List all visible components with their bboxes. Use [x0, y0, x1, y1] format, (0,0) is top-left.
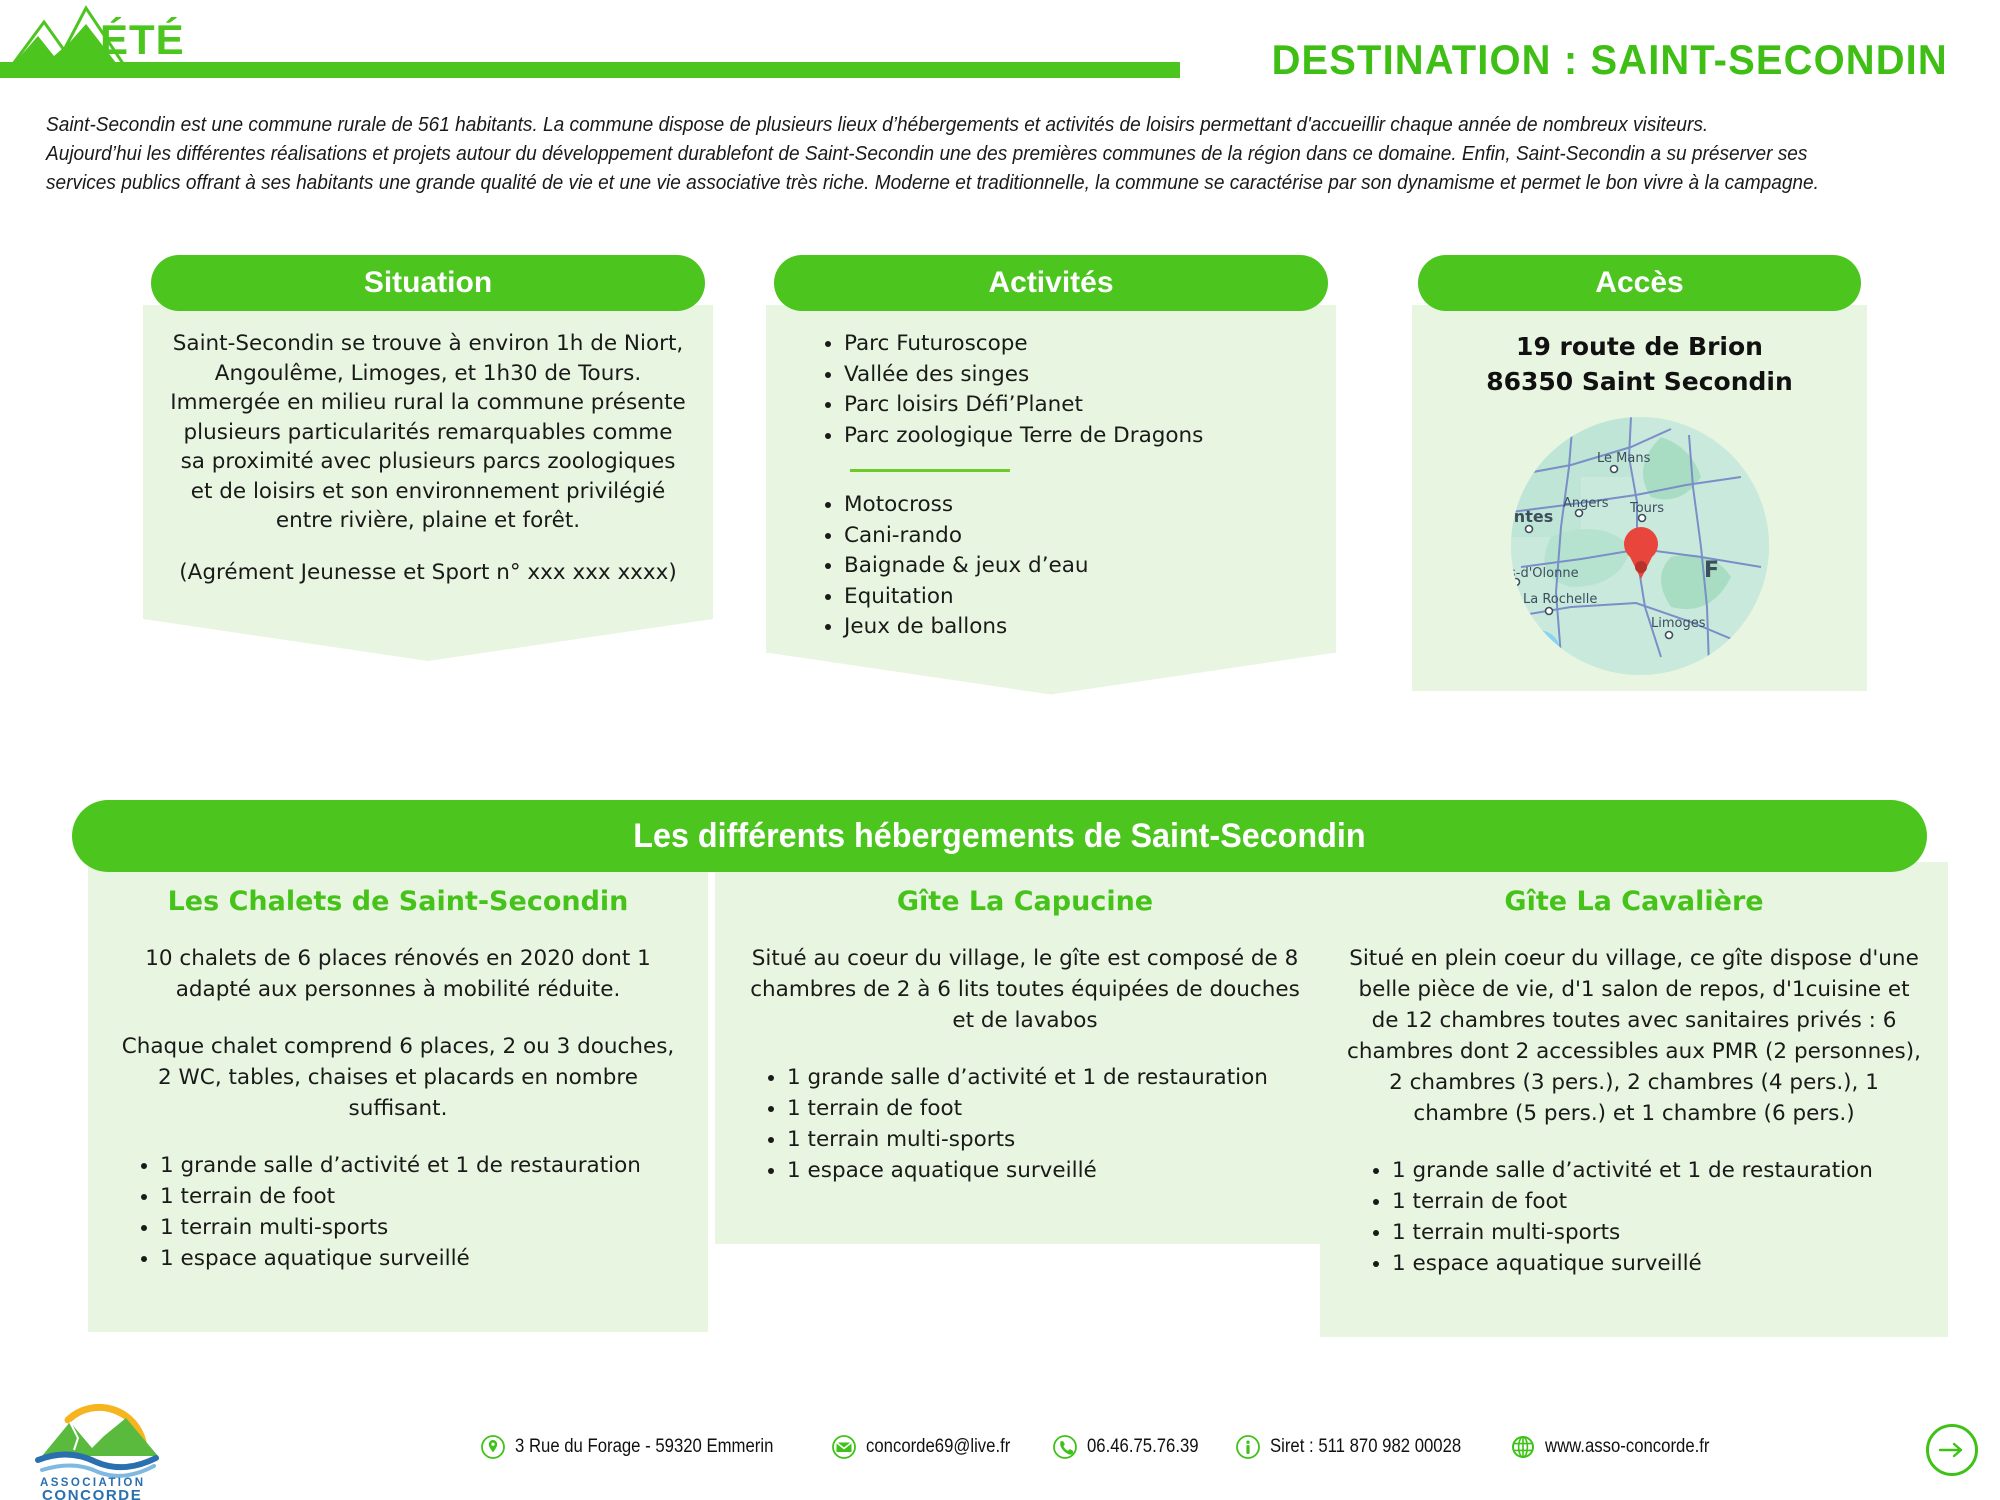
footer-address: 3 Rue du Forage - 59320 Emmerin — [480, 1434, 809, 1460]
phone-icon — [1052, 1434, 1078, 1460]
list-item: 1 espace aquatique surveillé — [1392, 1248, 1924, 1279]
intro-paragraph: Saint-Secondin est une commune rurale de… — [46, 110, 1813, 197]
logo-line-2: CONCORDE — [42, 1487, 142, 1500]
acces-address-line-1: 19 route de Brion — [1438, 329, 1841, 364]
list-item: 1 espace aquatique surveillé — [160, 1243, 684, 1274]
card-activites-title: Activités — [988, 266, 1113, 300]
footer-address-text: 3 Rue du Forage - 59320 Emmerin — [515, 1436, 773, 1458]
card-activites-body: Parc Futuroscope Vallée des singes Parc … — [766, 305, 1336, 653]
envelope-icon — [831, 1434, 857, 1460]
map-label-la-rochelle: La Rochelle — [1523, 592, 1597, 607]
location-pin-icon — [480, 1434, 506, 1460]
card-activites: Activités Parc Futuroscope Vallée des si… — [766, 255, 1336, 695]
activites-divider — [850, 469, 1010, 472]
hebergements-banner: Les différents hébergements de Saint-Sec… — [72, 800, 1927, 872]
map-label-angers: Angers — [1563, 496, 1609, 511]
page-header: ÉTÉ DESTINATION : SAINT-SECONDIN — [0, 0, 2000, 90]
footer-website[interactable]: www.asso-concorde.fr — [1510, 1434, 1732, 1460]
list-item: Vallée des singes — [844, 360, 1310, 391]
card-acces-body: 19 route de Brion 86350 Saint Secondin — [1412, 305, 1867, 691]
map-label-nantes: antes — [1511, 507, 1553, 526]
footer-contact-list: 3 Rue du Forage - 59320 Emmerin concorde… — [480, 1434, 1754, 1460]
list-item: 1 terrain multi-sports — [787, 1124, 1311, 1155]
list-item: 1 grande salle d’activité et 1 de restau… — [787, 1062, 1311, 1093]
list-item: Jeux de ballons — [844, 612, 1310, 643]
card-acces: Accès 19 route de Brion 86350 Saint Seco… — [1412, 255, 1867, 691]
list-item: 1 terrain multi-sports — [1392, 1217, 1924, 1248]
map-label-limoges: Limoges — [1651, 616, 1706, 631]
hebergements-banner-title: Les différents hébergements de Saint-Sec… — [633, 817, 1365, 856]
hebergement-paragraph-1: Situé au coeur du village, le gîte est c… — [739, 943, 1311, 1036]
activites-list-group-1: Parc Futuroscope Vallée des singes Parc … — [792, 329, 1310, 451]
map-label-tours: Tours — [1629, 501, 1664, 516]
hebergement-paragraph-2: Chaque chalet comprend 6 places, 2 ou 3 … — [112, 1031, 684, 1124]
footer-email[interactable]: concorde69@live.fr — [831, 1434, 1030, 1460]
intro-line-3: services publics offrant à ses habitants… — [46, 168, 1813, 197]
hebergement-notch — [1320, 1293, 1948, 1337]
info-icon — [1235, 1434, 1261, 1460]
footer-email-text: concorde69@live.fr — [866, 1436, 1010, 1458]
map-label-sables: es-d'Olonne — [1511, 566, 1579, 581]
card-activites-header: Activités — [774, 255, 1328, 311]
footer-siret: Siret : 511 870 982 00028 — [1235, 1434, 1487, 1460]
situation-paragraph-1: Saint-Secondin se trouve à environ 1h de… — [169, 329, 687, 536]
intro-line-2: Aujourd’hui les différentes réalisations… — [46, 139, 1813, 168]
location-map[interactable]: Le Mans Angers Tours antes es-d'Olonne L… — [1511, 417, 1769, 675]
list-item: 1 grande salle d’activité et 1 de restau… — [1392, 1155, 1924, 1186]
info-cards-row: Situation Saint-Secondin se trouve à env… — [0, 255, 2000, 765]
season-label: ÉTÉ — [100, 16, 185, 64]
hebergement-notch — [88, 1288, 708, 1332]
hebergement-title: Gîte La Capucine — [739, 886, 1311, 917]
activites-list-group-2: Motocross Cani-rando Baignade & jeux d’e… — [792, 490, 1310, 643]
card-acces-header: Accès — [1418, 255, 1861, 311]
hebergement-title: Les Chalets de Saint-Secondin — [112, 886, 684, 917]
hebergement-facilities-list: 1 grande salle d’activité et 1 de restau… — [739, 1062, 1311, 1186]
map-label-france: F — [1704, 558, 1719, 583]
globe-icon — [1510, 1434, 1536, 1460]
card-activites-notch — [766, 653, 1336, 695]
situation-paragraph-2: (Agrément Jeunesse et Sport n° xxx xxx x… — [169, 558, 687, 588]
hebergement-column-chalets: Les Chalets de Saint-Secondin 10 chalets… — [88, 862, 708, 1332]
destination-title: DESTINATION : SAINT-SECONDIN — [1272, 36, 1948, 84]
list-item: 1 terrain de foot — [1392, 1186, 1924, 1217]
hebergement-facilities-list: 1 grande salle d’activité et 1 de restau… — [112, 1150, 684, 1274]
arrow-right-icon — [1938, 1441, 1966, 1459]
footer-phone-text: 06.46.75.76.39 — [1087, 1436, 1199, 1458]
card-situation-body: Saint-Secondin se trouve à environ 1h de… — [143, 305, 713, 619]
card-situation: Situation Saint-Secondin se trouve à env… — [143, 255, 713, 661]
next-page-button[interactable] — [1926, 1424, 1978, 1476]
list-item: 1 espace aquatique surveillé — [787, 1155, 1311, 1186]
intro-line-1: Saint-Secondin est une commune rurale de… — [46, 110, 1813, 139]
card-situation-header: Situation — [151, 255, 705, 311]
footer-siret-text: Siret : 511 870 982 00028 — [1270, 1436, 1461, 1458]
footer-phone[interactable]: 06.46.75.76.39 — [1052, 1434, 1214, 1460]
list-item: Cani-rando — [844, 521, 1310, 552]
association-concorde-logo-icon: ASSOCIATION CONCORDE — [30, 1390, 180, 1500]
list-item: 1 terrain multi-sports — [160, 1212, 684, 1243]
hebergement-notch — [715, 1200, 1335, 1244]
acces-address-line-2: 86350 Saint Secondin — [1438, 364, 1841, 399]
footer-website-text: www.asso-concorde.fr — [1545, 1436, 1709, 1458]
hebergement-paragraph-1: Situé en plein coeur du village, ce gîte… — [1344, 943, 1924, 1129]
list-item: Baignade & jeux d’eau — [844, 551, 1310, 582]
list-item: 1 terrain de foot — [160, 1181, 684, 1212]
page-footer: ASSOCIATION CONCORDE 3 Rue du Forage - 5… — [0, 1400, 2000, 1500]
hebergement-column-cavaliere: Gîte La Cavalière Situé en plein coeur d… — [1320, 862, 1948, 1337]
list-item: Parc loisirs Défi’Planet — [844, 390, 1310, 421]
card-situation-notch — [143, 619, 713, 661]
list-item: Motocross — [844, 490, 1310, 521]
list-item: Parc Futuroscope — [844, 329, 1310, 360]
map-label-le-mans: Le Mans — [1597, 451, 1651, 466]
list-item: Parc zoologique Terre de Dragons — [844, 421, 1310, 452]
card-situation-title: Situation — [364, 266, 492, 300]
list-item: 1 terrain de foot — [787, 1093, 1311, 1124]
hebergement-column-capucine: Gîte La Capucine Situé au coeur du villa… — [715, 862, 1335, 1244]
card-acces-title: Accès — [1595, 266, 1683, 300]
list-item: Equitation — [844, 582, 1310, 613]
hebergement-title: Gîte La Cavalière — [1344, 886, 1924, 917]
list-item: 1 grande salle d’activité et 1 de restau… — [160, 1150, 684, 1181]
hebergement-facilities-list: 1 grande salle d’activité et 1 de restau… — [1344, 1155, 1924, 1279]
hebergement-paragraph-1: 10 chalets de 6 places rénovés en 2020 d… — [112, 943, 684, 1005]
